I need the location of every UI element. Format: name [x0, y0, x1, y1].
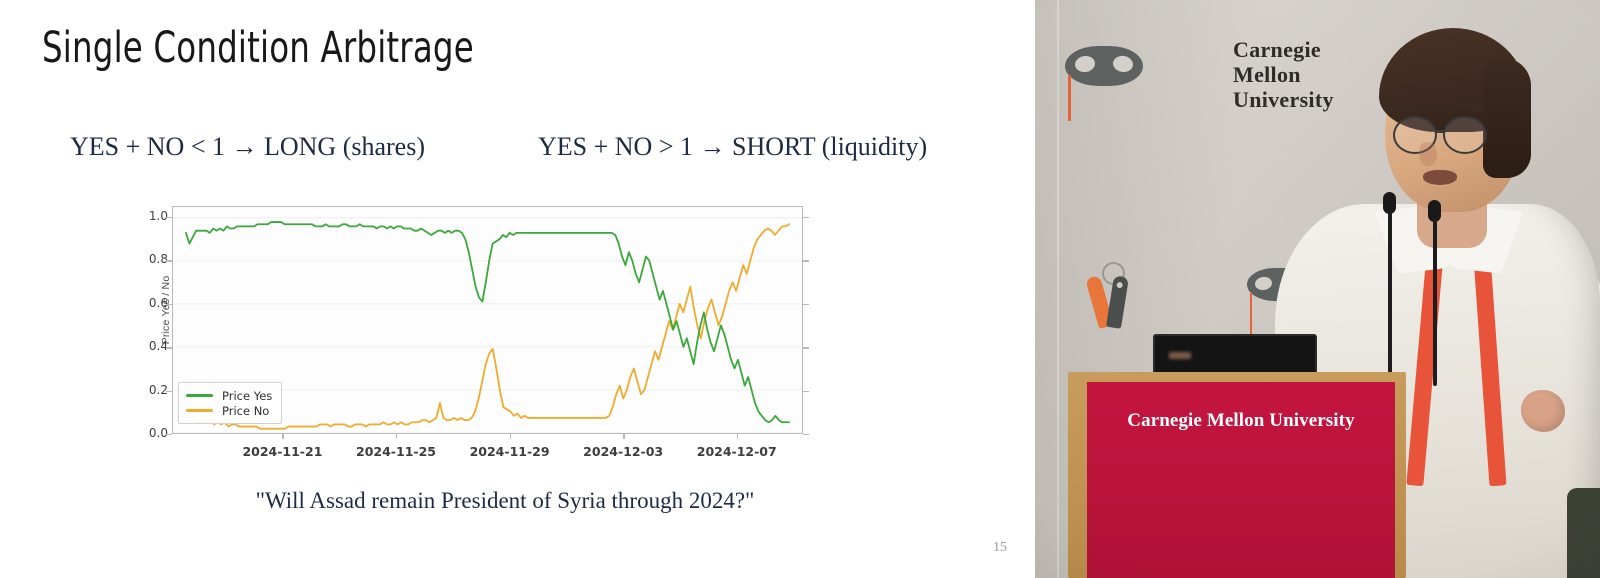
chart-x-tick-mark	[623, 434, 624, 439]
backdrop-seam	[1057, 0, 1059, 578]
chart-y-tick-mark	[803, 434, 809, 435]
chart-x-tick-label: 2024-11-21	[217, 444, 347, 459]
chart-y-tick-label: 0.4	[122, 339, 168, 353]
chart-y-tick-mark	[166, 391, 172, 392]
chart-y-tick-mark	[166, 260, 172, 261]
chart-y-tick-label: 1.0	[122, 209, 168, 223]
speaker-nose	[1419, 142, 1437, 166]
legend-swatch-price-no	[186, 409, 213, 411]
speaker-mouth	[1423, 170, 1457, 185]
slide-panel: Single Condition Arbitrage YES + NO < 1 …	[0, 0, 1035, 578]
chart-y-tick-mark	[803, 347, 809, 348]
condition-long-text: YES + NO < 1 → LONG (shares)	[70, 132, 425, 162]
chart-x-tick-mark	[737, 434, 738, 439]
eyeglasses-bridge	[1436, 130, 1445, 133]
legend-label-price-no: Price No	[222, 404, 269, 418]
chart-y-tick-label: 0.2	[122, 383, 168, 397]
eyeglasses-lens-right	[1443, 116, 1487, 154]
mask-icon	[1065, 46, 1143, 86]
speaker-hand	[1521, 390, 1565, 432]
chart-x-tick-label: 2024-11-25	[331, 444, 461, 459]
chart-y-tick-label: 0.0	[122, 426, 168, 440]
chart-y-tick-mark	[166, 434, 172, 435]
legend-swatch-price-yes	[186, 394, 213, 396]
microphone-stand	[1433, 218, 1437, 386]
chart-y-tick-mark	[166, 304, 172, 305]
chart-y-tick-mark	[803, 391, 809, 392]
keys-icon	[1080, 262, 1142, 334]
slide-number: 15	[993, 540, 1007, 556]
podium-banner-text: Carnegie Mellon University	[1087, 410, 1395, 432]
chart-y-tick-mark	[803, 260, 809, 261]
chart-y-tick-mark	[166, 347, 172, 348]
chart-x-tick-mark	[510, 434, 511, 439]
chart-caption: "Will Assad remain President of Syria th…	[0, 488, 1010, 514]
microphone-stand	[1388, 210, 1392, 385]
price-chart: Price Yes / No 0.00.20.40.60.81.02024-11…	[112, 196, 812, 464]
chart-y-tick-mark	[803, 304, 809, 305]
speaker-video-panel: CarnegieMellonUniversity	[1035, 0, 1600, 578]
chart-x-tick-label: 2024-12-03	[558, 444, 688, 459]
chart-y-tick-mark	[803, 217, 809, 218]
chart-x-tick-label: 2024-12-07	[672, 444, 802, 459]
chart-y-tick-label: 0.8	[122, 252, 168, 266]
condition-row: YES + NO < 1 → LONG (shares) YES + NO > …	[0, 132, 1035, 172]
chart-legend: Price Yes Price No	[178, 382, 282, 424]
chart-x-tick-mark	[282, 434, 283, 439]
legend-item-price-yes: Price Yes	[186, 388, 272, 403]
speaker-trousers	[1567, 488, 1600, 578]
chart-x-tick-mark	[396, 434, 397, 439]
page-title: Single Condition Arbitrage	[42, 24, 474, 72]
chart-x-tick-label: 2024-11-29	[445, 444, 575, 459]
chart-y-tick-label: 0.6	[122, 296, 168, 310]
legend-item-price-no: Price No	[186, 403, 272, 418]
chart-y-tick-mark	[166, 217, 172, 218]
presentation-recording-frame: Single Condition Arbitrage YES + NO < 1 …	[0, 0, 1600, 578]
condition-short-text: YES + NO > 1 → SHORT (liquidity)	[538, 132, 927, 162]
legend-label-price-yes: Price Yes	[222, 389, 272, 403]
speaker-hair-side	[1483, 58, 1531, 178]
